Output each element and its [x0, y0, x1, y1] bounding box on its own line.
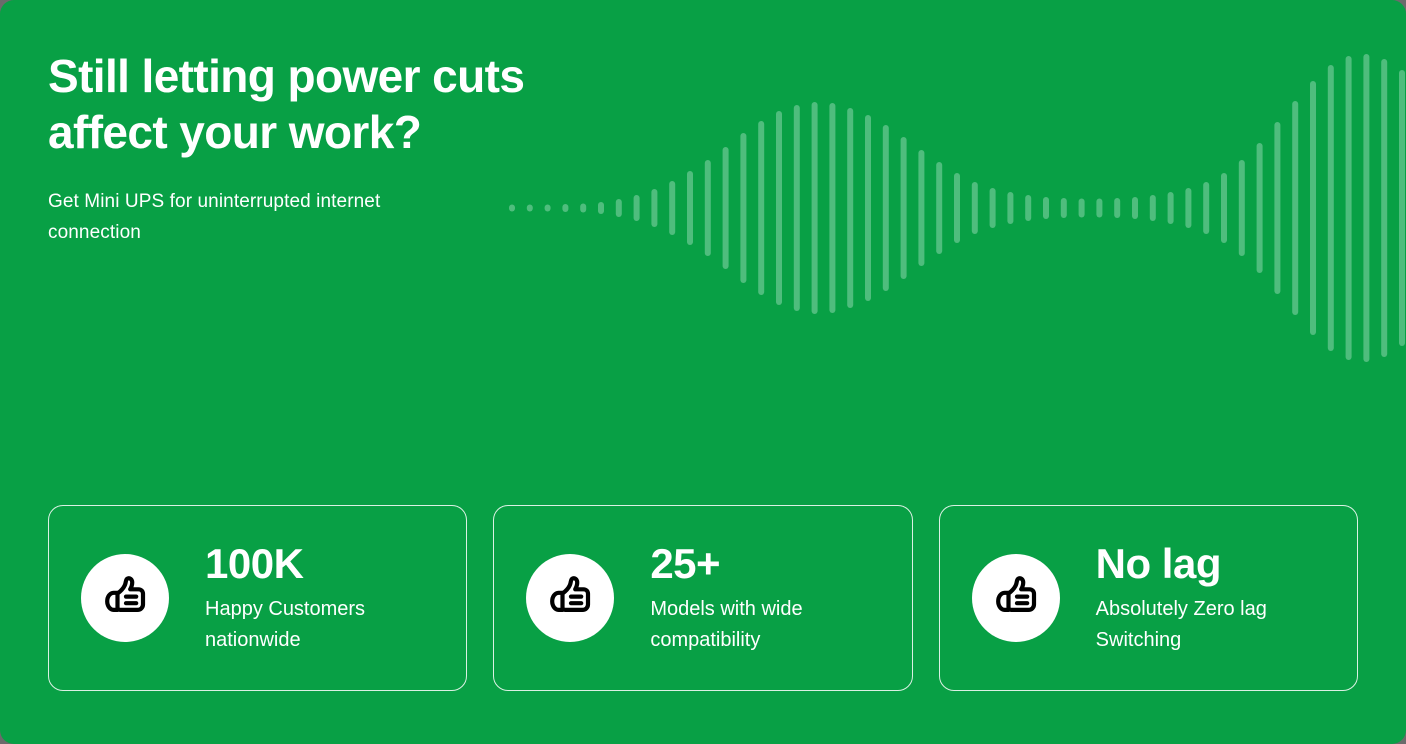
stat-desc-line-2: compatibility — [650, 629, 760, 651]
stat-cards-row: 100K Happy Customers nationwide — [48, 505, 1358, 691]
stat-card-no-lag[interactable]: No lag Absolutely Zero lag Switching — [939, 505, 1358, 691]
hero-text-block: Still letting power cuts affect your wor… — [48, 48, 608, 248]
thumbs-up-icon — [972, 554, 1060, 642]
stat-value: 25+ — [650, 540, 899, 588]
stat-value: 100K — [205, 540, 454, 588]
stat-description: Models with wide compatibility — [650, 594, 899, 656]
page-title: Still letting power cuts affect your wor… — [48, 48, 608, 160]
stat-desc-line-2: nationwide — [205, 629, 301, 651]
thumbs-up-icon — [81, 554, 169, 642]
headline-line-2: affect your work? — [48, 106, 421, 158]
stat-card-text: 100K Happy Customers nationwide — [205, 540, 466, 656]
headline-line-1: Still letting power cuts — [48, 50, 524, 102]
thumbs-up-icon — [526, 554, 614, 642]
stat-card-models[interactable]: 25+ Models with wide compatibility — [493, 505, 912, 691]
stat-card-text: 25+ Models with wide compatibility — [650, 540, 911, 656]
stat-description: Happy Customers nationwide — [205, 594, 454, 656]
stat-desc-line-2: Switching — [1096, 629, 1182, 651]
stat-card-happy-customers[interactable]: 100K Happy Customers nationwide — [48, 505, 467, 691]
stat-value: No lag — [1096, 540, 1345, 588]
stat-desc-line-1: Happy Customers — [205, 598, 365, 620]
promo-banner: Still letting power cuts affect your wor… — [0, 0, 1406, 744]
subhead-line-2: connection — [48, 222, 141, 243]
stat-desc-line-1: Models with wide — [650, 598, 802, 620]
stat-desc-line-1: Absolutely Zero lag — [1096, 598, 1267, 620]
stat-card-text: No lag Absolutely Zero lag Switching — [1096, 540, 1357, 656]
subhead-line-1: Get Mini UPS for uninterrupted internet — [48, 191, 380, 212]
stat-description: Absolutely Zero lag Switching — [1096, 594, 1345, 656]
hero-subtitle: Get Mini UPS for uninterrupted internet … — [48, 186, 608, 248]
